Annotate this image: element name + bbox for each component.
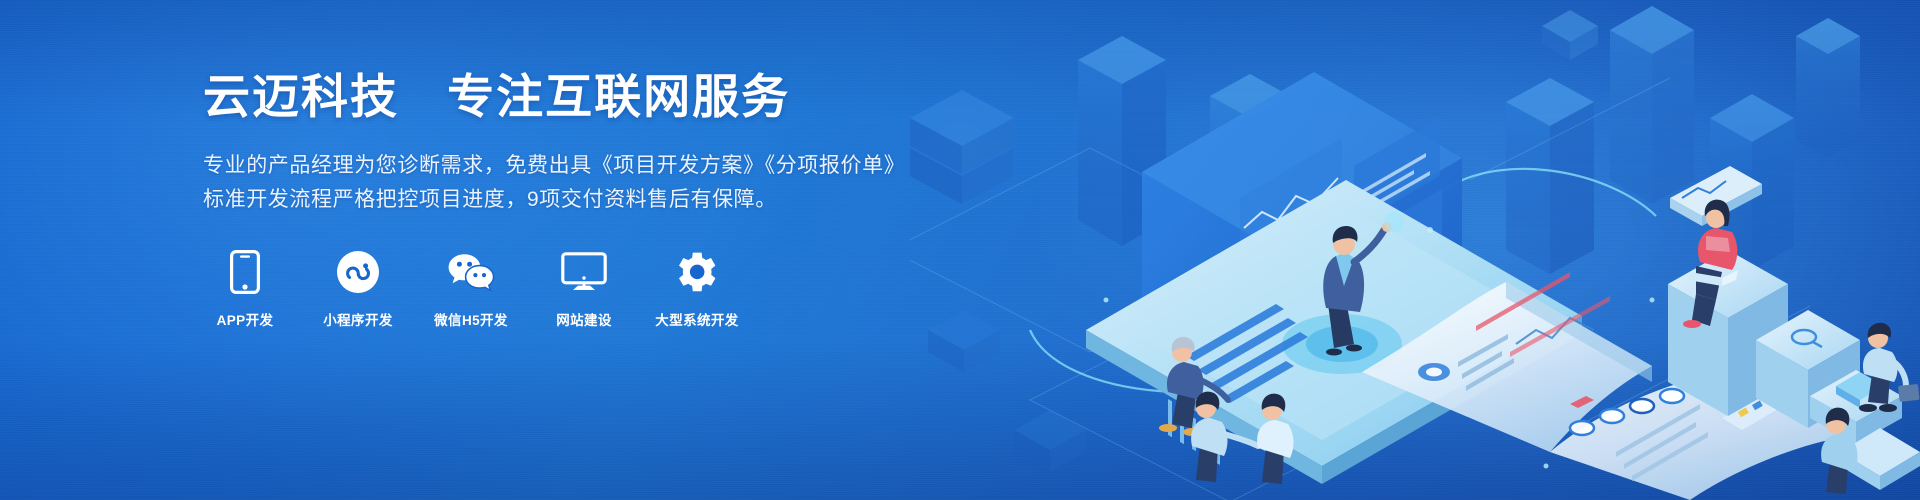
headline-tagline: 专注互联网服务 [447,70,790,123]
headline-brand: 云迈科技 [203,70,399,123]
service-item-miniprogram[interactable]: 小程序开发 [316,249,400,329]
page-title: 云迈科技 专注互联网服务 [203,68,963,127]
service-label-app: APP开发 [217,309,274,329]
service-label-website: 网站建设 [556,309,612,329]
service-item-app[interactable]: APP开发 [203,249,287,329]
bottom-vignette [0,340,1920,500]
service-item-website[interactable]: 网站建设 [542,249,626,329]
hero-banner: 云迈科技 专注互联网服务 专业的产品经理为您诊断需求，免费出具《项目开发方案》《… [0,0,1920,500]
service-label-large-system: 大型系统开发 [655,309,738,329]
isometric-tech-illustration [910,0,1920,500]
service-item-wechat-h5[interactable]: 微信H5开发 [429,249,513,329]
service-label-miniprogram: 小程序开发 [323,309,393,329]
service-item-large-system[interactable]: 大型系统开发 [655,249,739,329]
service-label-wechat-h5: 微信H5开发 [434,309,508,329]
banner-subtitle: 专业的产品经理为您诊断需求，免费出具《项目开发方案》《分项报价单》 标准开发流程… [203,149,963,217]
wechat-chat-icon [447,249,495,295]
subtitle-line-1: 专业的产品经理为您诊断需求，免费出具《项目开发方案》《分项报价单》 [203,149,963,183]
subtitle-line-2: 标准开发流程严格把控项目进度，9项交付资料售后有保障。 [203,183,963,217]
mobile-phone-icon [230,249,260,295]
banner-content: 云迈科技 专注互联网服务 专业的产品经理为您诊断需求，免费出具《项目开发方案》《… [203,68,963,329]
gear-icon [675,249,719,295]
service-list: APP开发 小程序开发 [203,249,963,329]
desktop-monitor-icon [561,249,607,295]
wechat-miniprogram-icon [336,249,380,295]
